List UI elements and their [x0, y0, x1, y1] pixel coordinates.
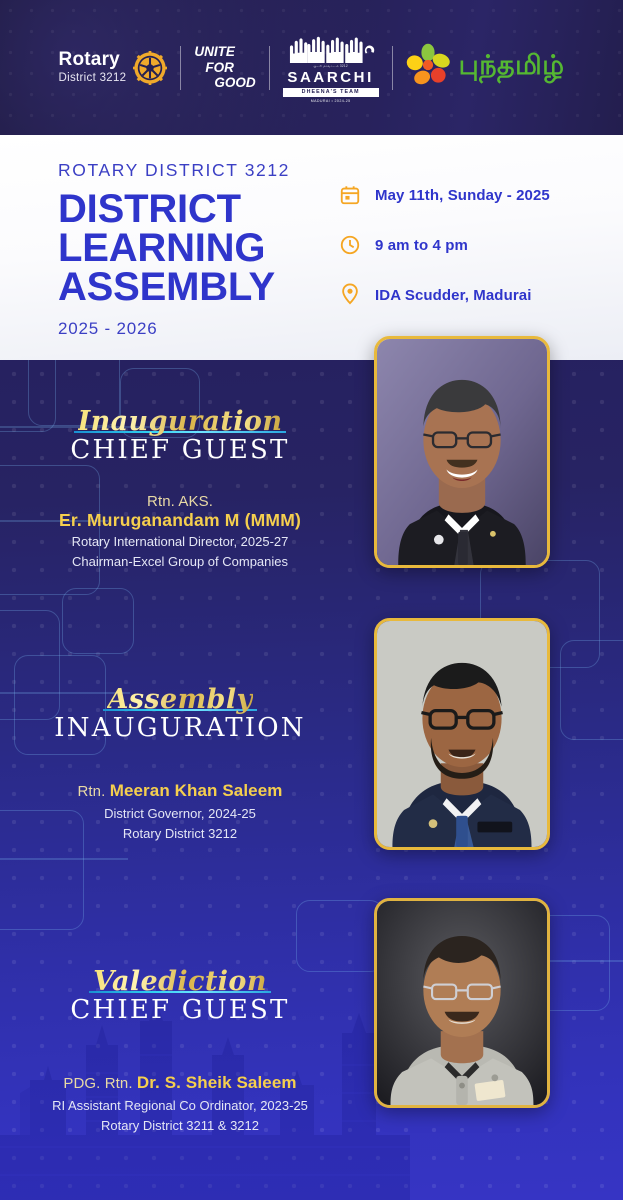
rotary-wheel-icon — [133, 51, 167, 85]
tagline-line-3: GOOD — [194, 75, 255, 91]
flower-icon — [406, 43, 450, 92]
speaker-2-script-label: Assembly — [107, 686, 252, 714]
event-time-text: 9 am to 4 pm — [375, 237, 468, 254]
speaker-3-name: Dr. S. Sheik Saleem — [137, 1073, 297, 1092]
rotary-year-range: 2025 - 2026 — [58, 319, 290, 339]
page-title: DISTRICT LEARNING ASSEMBLY — [58, 190, 290, 308]
logo-divider-2 — [269, 46, 270, 90]
rotary-logo: Rotary District 3212 — [59, 50, 168, 85]
speaker-3-script-label-wrap: Valediction — [93, 968, 267, 996]
header-bar: Rotary District 3212 — [0, 0, 623, 135]
speaker-2-name: Meeran Khan Saleem — [110, 781, 283, 800]
speaker-3-role-line-1: RI Assistant Regional Co Ordinator, 2023… — [0, 1097, 360, 1116]
event-venue-text: IDA Scudder, Madurai — [375, 287, 531, 304]
title-line-3: ASSEMBLY — [58, 268, 290, 307]
speaker-1-name: Er. Muruganandam M (MMM) — [0, 510, 360, 531]
event-venue-row: IDA Scudder, Madurai — [338, 282, 550, 308]
unite-for-good-logo: UNITE FOR GOOD — [194, 44, 255, 91]
event-info-band: ROTARY DISTRICT 3212 DISTRICT LEARNING A… — [0, 135, 623, 360]
speaker-2-prefix: Rtn. — [77, 783, 105, 800]
saarchi-registration: MADURAI • 2024-25 — [311, 99, 351, 103]
calendar-icon — [338, 182, 362, 208]
speaker-1-script-label: Inauguration — [78, 408, 283, 436]
speaker-block-2: Assembly INAUGURATION Rtn. Meeran Khan S… — [0, 686, 360, 844]
speaker-1-script-label-wrap: Inauguration — [78, 408, 283, 436]
speaker-3-role-line-2: Rotary District 3211 & 3212 — [0, 1117, 360, 1136]
title-line-1: DISTRICT — [58, 190, 290, 229]
speaker-3-photo — [374, 898, 550, 1108]
speaker-2-script-label-wrap: Assembly — [107, 686, 252, 714]
event-meta-list: May 11th, Sunday - 2025 9 am to 4 pm — [338, 182, 550, 332]
speaker-3-script-label: Valediction — [93, 968, 267, 996]
rotary-name: Rotary — [59, 50, 127, 69]
tagline-line-2: FOR — [194, 60, 255, 76]
saarchi-logo: ருடரி மாவட்டம் 3212 SAARCHI DHEENA'S TEA… — [283, 33, 379, 103]
speaker-2-role-line-2: Rotary District 3212 — [0, 825, 360, 844]
saarchi-name: SAARCHI — [283, 70, 379, 87]
speaker-1-role-line-2: Chairman-Excel Group of Companies — [0, 553, 360, 572]
speaker-3-role-label: CHIEF GUEST — [0, 997, 360, 1024]
punthamil-logo: புந்தமிழ் — [406, 43, 565, 92]
poster-root: Rotary District 3212 — [0, 0, 623, 1200]
location-pin-icon — [338, 282, 362, 308]
speaker-2-role-line-1: District Governor, 2024-25 — [0, 805, 360, 824]
speaker-1-role-label: CHIEF GUEST — [0, 437, 360, 464]
logo-divider-3 — [392, 46, 393, 90]
speaker-2-name-row: Rtn. Meeran Khan Saleem — [0, 781, 360, 801]
eyebrow-text: ROTARY DISTRICT 3212 — [58, 160, 290, 181]
speaker-1-role-line-1: Rotary International Director, 2025-27 — [0, 533, 360, 552]
punthamil-text: புந்தமிழ் — [459, 50, 565, 85]
speaker-1-prefix: Rtn. AKS. — [0, 493, 360, 510]
speaker-3-name-row: PDG. Rtn. Dr. S. Sheik Saleem — [0, 1073, 360, 1093]
rotary-district: District 3212 — [59, 73, 127, 85]
raised-hands-icon — [283, 33, 379, 63]
title-line-2: LEARNING — [58, 229, 290, 268]
event-date-text: May 11th, Sunday - 2025 — [375, 187, 550, 204]
speaker-2-photo — [374, 618, 550, 850]
event-time-row: 9 am to 4 pm — [338, 232, 550, 258]
event-date-row: May 11th, Sunday - 2025 — [338, 182, 550, 208]
speaker-3-prefix: PDG. Rtn. — [63, 1075, 132, 1092]
tagline-line-1: UNITE — [194, 44, 255, 60]
speaker-1-photo — [374, 336, 550, 568]
saarchi-team: DHEENA'S TEAM — [283, 88, 379, 97]
clock-icon — [338, 232, 362, 258]
speaker-block-1: Inauguration CHIEF GUEST Rtn. AKS. Er. M… — [0, 408, 360, 572]
speaker-block-3: Valediction CHIEF GUEST PDG. Rtn. Dr. S.… — [0, 968, 360, 1136]
logo-divider-1 — [180, 46, 181, 90]
speaker-2-role-label: INAUGURATION — [0, 715, 360, 742]
saarchi-tamil-caption: ருடரி மாவட்டம் 3212 — [283, 64, 379, 69]
